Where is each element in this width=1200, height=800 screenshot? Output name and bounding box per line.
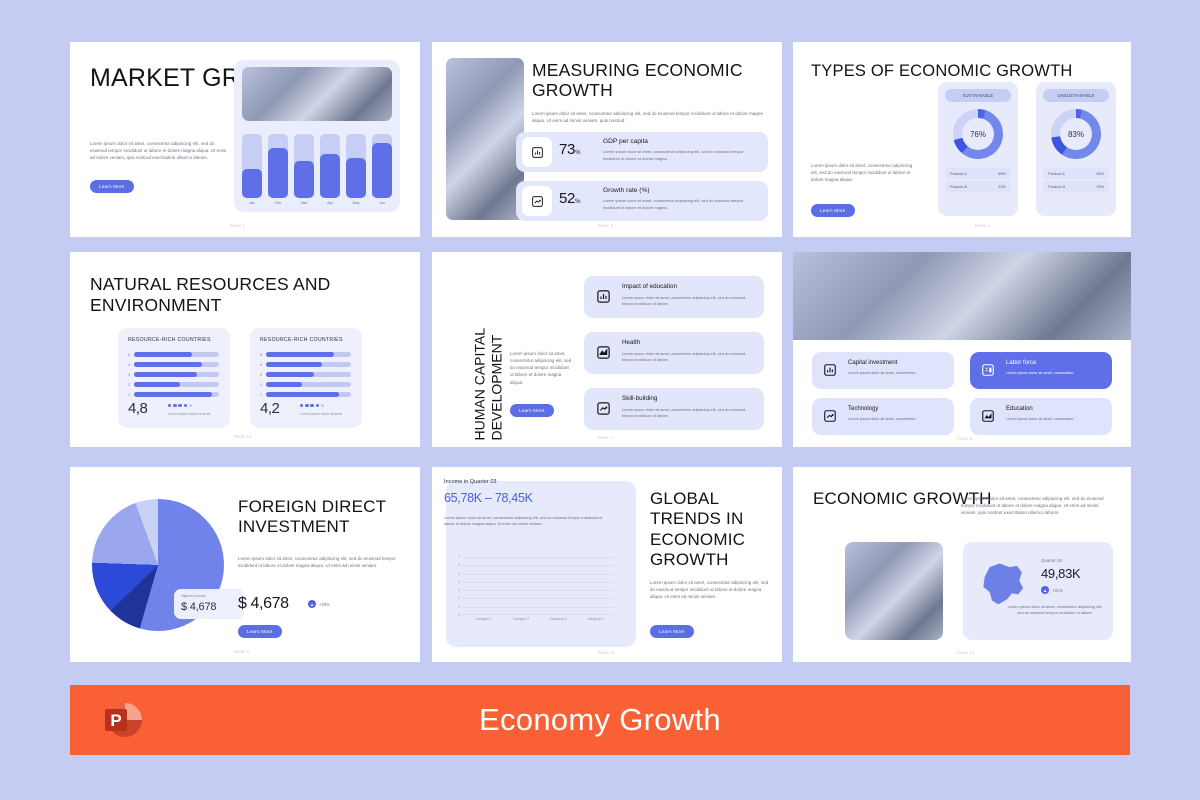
page-label: PAGE 8 [957,437,972,441]
y-tick: 2 [458,596,460,600]
bar-label: Feb [268,201,288,205]
page-title: TYPES OF ECONOMIC GROWTH [811,62,1072,82]
stat-card[interactable]: 73% GDP per capita Lorem ipsum dolor sit… [516,132,768,172]
x-tick: Category 1 [475,617,492,621]
x-tick: Category 2 [513,617,530,621]
footer-banner: Economy Growth P [70,685,1130,755]
tooltip-label: Highest income [181,594,206,598]
score-caption: Lorem ipsum dolor sit amet. [300,412,343,416]
bar-track [372,134,392,198]
factor-heading: Technology [848,406,878,412]
card-tag: UNSUSTAINABLE [1043,89,1109,102]
product-row: Product A 89% [945,168,1011,179]
stat-desc: Lorem ipsum dolor sit amet, consectetur … [603,198,755,211]
factor-heading: Education [1006,406,1033,412]
bar-column: Jun [372,134,392,205]
factor-card-labor-force[interactable]: Labor force Lorem ipsum dolor sit amet, … [970,352,1112,389]
factor-heading: Capital investment [848,360,897,366]
y-tick: 5 [458,572,460,576]
product-value: 13% [998,184,1006,189]
y-tick: 0 [458,613,460,617]
quarter-delta: +31% [1052,588,1063,593]
panel-desc: Lorem ipsum dolor sit amet, consectetur … [444,515,609,528]
slide-growth-factors[interactable]: Capital investment Lorem ipsum dolor sit… [793,252,1131,447]
stat-card[interactable]: 52% Growth rate (%) Lorem ipsum dolor si… [516,181,768,221]
page-label: PAGE 1 [230,224,245,228]
page-title: GLOBAL TRENDS IN ECONOMIC GROWTH [650,489,780,571]
bar-track [268,134,288,198]
card-tag: SUSTAINABLE [945,89,1011,102]
y-tick: 3 [458,588,460,592]
quarter-value: 49,83K [1041,566,1080,581]
bar-label: Mar [294,201,314,205]
product-value: 76% [1096,184,1104,189]
feature-card[interactable]: Health Lorem ipsum dolor sit amet, conse… [584,332,764,374]
body-text: Lorem ipsum dolor sit amet, consectetur … [961,495,1113,516]
feature-heading: Health [622,339,640,346]
factor-desc: Lorem ipsum dolor sit amet, consectetur. [848,371,946,377]
page-label: PAGE 9 [234,650,249,654]
trend-up-icon [522,186,552,216]
score-value: 4,2 [260,400,279,417]
page-title: FOREIGN DIRECT INVESTMENT [238,497,414,537]
y-axis: 7 6 5 4 3 2 1 0 [454,557,462,615]
y-tick: 7 [458,555,460,559]
bar-column: Feb [268,134,288,205]
slide-market-growth[interactable]: MARKET GROWTH Lorem ipsum dolor sit amet… [70,42,420,237]
kpi-delta: +29% [319,602,330,607]
score-value: 4,8 [128,400,147,417]
template-showcase: MARKET GROWTH Lorem ipsum dolor sit amet… [0,0,1200,800]
feature-heading: Impact of education [622,283,677,290]
body-text: Lorem ipsum dolor sit amet, consectetur … [90,140,230,161]
stat-value: 73% [559,141,580,158]
page-title: MEASURING ECONOMIC GROWTH [532,60,772,101]
factor-heading: Labor force [1006,360,1036,366]
learn-more-button[interactable]: Learn More [510,404,554,417]
body-text: Lorem ipsum dolor sit amet, consectetur … [811,162,916,183]
x-tick: Category 3 [550,617,567,621]
page-label: PAGE 4 [975,224,990,228]
stat-heading: GDP per capita [603,138,648,145]
factor-desc: Lorem ipsum dolor sit amet, consectetur. [1006,371,1104,377]
page-title: NATURAL RESOURCES AND ENVIRONMENT [90,274,420,316]
resource-card: RESOURCE-RICH COUNTRIES 5 4 3 2 1 4,2 Lo… [250,328,362,428]
x-axis: Category 1 Category 2 Category 3 Categor… [465,617,614,621]
layout-icon [979,361,997,379]
bar-chart-icon [821,361,839,379]
slide-types-of-growth[interactable]: TYPES OF ECONOMIC GROWTH Lorem ipsum dol… [793,42,1131,237]
page-label: PAGE 7 [598,436,613,440]
product-row: Product B 13% [945,181,1011,192]
quarter-label: Quarter 04 [1041,558,1062,563]
feature-card[interactable]: Skill-building Lorem ipsum dolor sit ame… [584,388,764,430]
learn-more-button[interactable]: Learn More [811,204,855,217]
rating-track [266,362,351,367]
card-desc: Lorem ipsum dolor sit amet, consectetur … [1005,604,1105,617]
slide-photo [446,58,524,220]
y-tick: 4 [458,580,460,584]
feature-desc: Lorem ipsum dolor sit amet, consectetur … [622,407,756,420]
quarter-card: Quarter 04 49,83K ▲ +31% Lorem ipsum dol… [963,542,1113,640]
banner-title: Economy Growth [70,685,1130,755]
feature-card[interactable]: Impact of education Lorem ipsum dolor si… [584,276,764,318]
y-tick: 1 [458,605,460,609]
rating-track [266,392,351,397]
slide-photo [793,252,1131,340]
rating-track [134,392,219,397]
rating-track [266,382,351,387]
rating-track [134,362,219,367]
bar-label: Jun [372,201,392,205]
rating-track [134,382,219,387]
product-label: Product B [950,184,967,189]
slide-human-capital[interactable]: HUMAN CAPITAL DEVELOPMENT Lorem ipsum do… [432,252,782,447]
body-text: Lorem ipsum dolor sit amet, consectetur … [510,350,572,386]
factor-card-education[interactable]: Education Lorem ipsum dolor sit amet, co… [970,398,1112,435]
stat-heading: Growth rate (%) [603,187,650,194]
page-label: PAGE 11 [598,651,615,655]
rating-track [134,352,219,357]
kpi-delta-badge: ▲ +29% [308,600,330,608]
mountain-chart-icon [979,407,997,425]
bar-label: May [346,201,366,205]
score-caption: Lorem ipsum dolor sit amet. [168,412,211,416]
product-row: Product A 35% [1043,168,1109,179]
mountain-chart-icon [594,343,613,362]
panel-label: Income in Quarter 03 [444,479,497,485]
slide-global-trends[interactable]: Income in Quarter 03 65,78K – 78,45K Lor… [432,467,782,662]
donut-card-sustainable: SUSTAINABLE 76% Product A 89% Product B … [938,82,1018,216]
bar-track [294,134,314,198]
powerpoint-logo: P [102,697,148,743]
feature-desc: Lorem ipsum dolor sit amet, consectetur … [622,351,756,364]
factor-card-capital-investment[interactable]: Capital investment Lorem ipsum dolor sit… [812,352,954,389]
bar-groups [465,557,614,615]
learn-more-button[interactable]: Learn More [90,180,134,193]
bar-column: Mar [294,134,314,205]
pie-tooltip: Highest income $ 4,678 [174,589,244,619]
bar-label: Apr [320,201,340,205]
tooltip-value: $ 4,678 [181,601,216,613]
body-text: Lorem ipsum dolor sit amet, consectetur … [650,579,772,600]
slide-foreign-investment[interactable]: Highest income $ 4,678 FOREIGN DIRECT IN… [70,467,420,662]
product-row: Product B 76% [1043,181,1109,192]
slide-natural-resources[interactable]: NATURAL RESOURCES AND ENVIRONMENT RESOUR… [70,252,420,447]
x-tick: Category 4 [587,617,604,621]
bar-track [320,134,340,198]
rating-track [266,352,351,357]
panel-value: 65,78K – 78,45K [444,491,533,505]
page-label: PAGE 13 [957,651,975,655]
rating-track [134,372,219,377]
factor-desc: Lorem ipsum dolor sit amet, consectetur. [848,417,946,423]
factor-card-technology[interactable]: Technology Lorem ipsum dolor sit amet, c… [812,398,954,435]
body-text: Lorem ipsum dolor sit amet, consectetur … [238,555,398,569]
product-value: 89% [998,171,1006,176]
rating-track [266,372,351,377]
body-text: Lorem ipsum dolor sit amet, consectetur … [532,110,767,124]
page-title: HUMAN CAPITAL DEVELOPMENT [471,281,504,441]
slide-economic-growth[interactable]: ECONOMIC GROWTH Lorem ipsum dolor sit am… [793,467,1131,662]
card-heading: RESOURCE-RICH COUNTRIES [260,337,343,343]
y-tick: 6 [458,563,460,567]
card-heading: RESOURCE-RICH COUNTRIES [128,337,211,343]
kpi-value: $ 4,678 [238,595,289,613]
factor-desc: Lorem ipsum dolor sit amet, consectetur. [1006,417,1104,423]
grouped-bar-chart: 7 6 5 4 3 2 1 0 [454,557,614,615]
donut-chart: 83% [1051,109,1101,159]
learn-more-button[interactable]: Learn More [238,625,282,638]
bar-track [346,134,366,198]
donut-center-label: 76% [962,118,994,150]
feature-heading: Skill-building [622,395,657,402]
slide-measuring-growth[interactable]: MEASURING ECONOMIC GROWTH Lorem ipsum do… [432,42,782,237]
bar-chart-icon [594,287,613,306]
arrow-up-icon: ▲ [1041,586,1049,594]
stat-desc: Lorem ipsum dolor sit amet, consectetur … [603,149,755,162]
slide-photo [242,67,392,121]
feature-desc: Lorem ipsum dolor sit amet, consectetur … [622,295,756,308]
quarter-delta-badge: ▲ +31% [1041,586,1063,594]
learn-more-button[interactable]: Learn More [650,625,694,638]
product-label: Product A [1048,171,1065,176]
stat-value: 52% [559,190,580,207]
bar-label: Jan [242,201,262,205]
bar-chart: Jan Feb Mar Apr May Jun [242,127,392,205]
bar-chart-icon [522,137,552,167]
rating-dots [168,404,192,407]
bar-column: May [346,134,366,205]
bar-track [242,134,262,198]
product-label: Product B [1048,184,1065,189]
slide-photo [845,542,943,640]
bar-column: Jan [242,134,262,205]
page-label: PAGE 10 [234,435,252,439]
svg-text:P: P [110,711,121,730]
donut-center-label: 83% [1060,118,1092,150]
product-label: Product A [950,171,967,176]
resource-card: RESOURCE-RICH COUNTRIES 5 4 3 2 1 4,8 Lo… [118,328,230,428]
product-value: 35% [1096,171,1104,176]
arrow-up-icon: ▲ [308,600,316,608]
trend-up-icon [594,399,613,418]
bar-column: Apr [320,134,340,205]
page-label: PAGE 3 [598,224,613,228]
trend-up-icon [821,407,839,425]
donut-card-unsustainable: UNSUSTAINABLE 83% Product A 35% Product … [1036,82,1116,216]
rating-dots [300,404,324,407]
donut-chart: 76% [953,109,1003,159]
